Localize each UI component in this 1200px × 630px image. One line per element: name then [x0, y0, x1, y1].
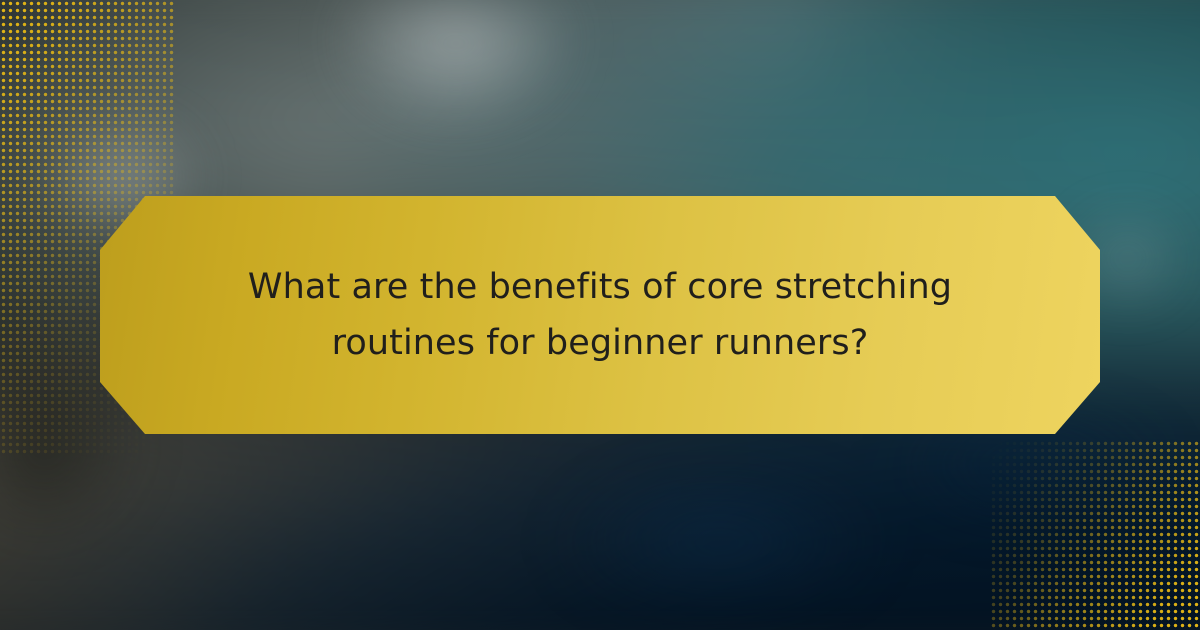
question-card: What are the benefits of core stretching…	[100, 196, 1100, 434]
social-card-canvas: What are the benefits of core stretching…	[0, 0, 1200, 630]
question-text: What are the benefits of core stretching…	[180, 259, 1020, 371]
